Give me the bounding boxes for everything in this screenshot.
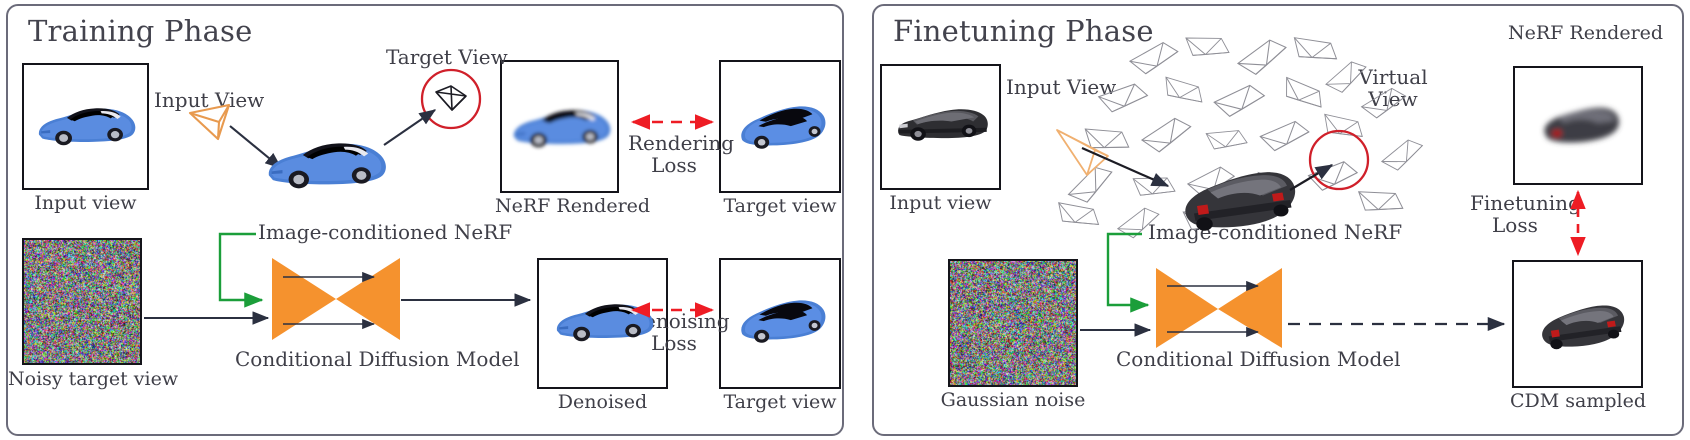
finetuning-input-view-caption: Input view xyxy=(880,192,1001,214)
training-target-view-bottom-caption: Target view xyxy=(719,391,841,413)
training-phase-title: Training Phase xyxy=(28,14,253,48)
rendering-loss-line1: Rendering xyxy=(628,132,720,154)
rgb-noise-canvas xyxy=(24,240,142,365)
training-noisy-target-caption: Noisy target view xyxy=(8,368,156,390)
finetuning-conditional-diffusion-model-label: Conditional Diffusion Model xyxy=(1116,347,1400,371)
training-nerf-rendered-caption: NeRF Rendered xyxy=(495,195,624,217)
training-target-view-bottom-image xyxy=(719,258,841,389)
training-denoising-loss-label: Denoising Loss xyxy=(628,310,720,355)
rendering-loss-line2: Loss xyxy=(628,154,720,176)
finetuning-gaussian-noise-caption: Gaussian noise xyxy=(940,389,1086,411)
finetuning-image-conditioned-nerf-label: Image-conditioned NeRF xyxy=(1148,220,1402,244)
finetuning-input-view-image xyxy=(880,64,1001,190)
virtual-view-line2: View xyxy=(1353,88,1433,110)
finetuning-nerf-rendered-image xyxy=(1513,66,1643,185)
training-input-view-caption: Input view xyxy=(22,192,149,214)
training-image-conditioned-nerf-label: Image-conditioned NeRF xyxy=(258,220,512,244)
training-target-view-top-image xyxy=(719,60,841,193)
training-conditional-diffusion-model-label: Conditional Diffusion Model xyxy=(235,347,519,371)
finetuning-virtual-view-camera-label: Virtual View xyxy=(1353,66,1433,111)
training-denoised-caption: Denoised xyxy=(537,391,668,413)
training-input-view-camera-label: Input View xyxy=(154,88,264,112)
training-target-view-camera-label: Target View xyxy=(386,45,508,69)
training-noisy-target-image xyxy=(22,238,142,365)
finetuning-cdm-sampled-caption: CDM sampled xyxy=(1505,390,1651,412)
finetuning-input-view-camera-label: Input View xyxy=(1006,75,1116,99)
denoising-loss-line1: Denoising xyxy=(628,310,720,332)
training-rendering-loss-label: Rendering Loss xyxy=(628,132,720,177)
finetuning-loss-line2: Loss xyxy=(1492,214,1588,236)
finetuning-nerf-rendered-title: NeRF Rendered xyxy=(1508,22,1663,44)
training-target-view-top-caption: Target view xyxy=(719,195,841,217)
training-nerf-rendered-image xyxy=(500,60,619,193)
rgb-noise-canvas xyxy=(950,261,1078,387)
figure-root: Training Phase Input view NeRF Rendered … xyxy=(0,0,1690,440)
finetuning-phase-title: Finetuning Phase xyxy=(893,14,1154,48)
virtual-view-line1: Virtual xyxy=(1353,66,1433,88)
training-input-view-image xyxy=(22,63,149,190)
finetuning-loss-label: Finetuning Loss xyxy=(1470,192,1588,237)
finetuning-gaussian-noise-image xyxy=(948,259,1078,387)
denoising-loss-line2: Loss xyxy=(628,332,720,354)
finetuning-loss-line1: Finetuning xyxy=(1470,192,1588,214)
finetuning-cdm-sampled-image xyxy=(1512,260,1643,388)
